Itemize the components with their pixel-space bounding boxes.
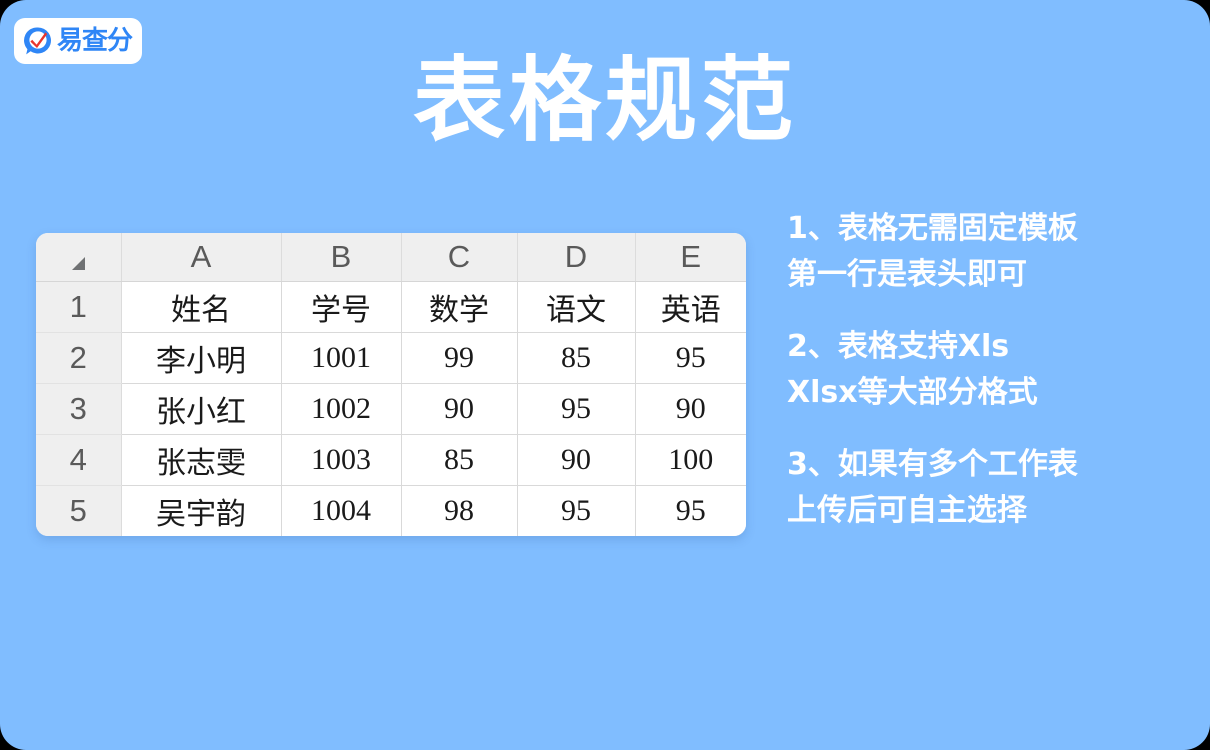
select-all-triangle-icon <box>72 257 85 270</box>
cell-c1[interactable]: 数学 <box>401 282 517 333</box>
note-item-3-line-2: 上传后可自主选择 <box>787 488 1187 534</box>
page-title: 表格规范 <box>0 48 1210 154</box>
spreadsheet-panel: A B C D E 1 姓名 学号 数学 语文 英语 2 李小明 <box>36 233 746 536</box>
cell-e4[interactable]: 100 <box>635 435 746 486</box>
cell-d4[interactable]: 90 <box>517 435 635 486</box>
cell-a2[interactable]: 李小明 <box>121 333 281 384</box>
row-header-5[interactable]: 5 <box>36 486 121 537</box>
cell-a4[interactable]: 张志雯 <box>121 435 281 486</box>
note-item-1: 1、表格无需固定模板 第一行是表头即可 <box>787 206 1187 298</box>
table-row: 3 张小红 1002 90 95 90 <box>36 384 746 435</box>
cell-d2[interactable]: 85 <box>517 333 635 384</box>
cell-b1[interactable]: 学号 <box>281 282 401 333</box>
row-header-1[interactable]: 1 <box>36 282 121 333</box>
row-header-3[interactable]: 3 <box>36 384 121 435</box>
row-header-4[interactable]: 4 <box>36 435 121 486</box>
cell-d3[interactable]: 95 <box>517 384 635 435</box>
column-header-d[interactable]: D <box>517 233 635 282</box>
cell-a5[interactable]: 吴宇韵 <box>121 486 281 537</box>
cell-b4[interactable]: 1003 <box>281 435 401 486</box>
cell-a3[interactable]: 张小红 <box>121 384 281 435</box>
note-item-2-line-2: Xlsx等大部分格式 <box>787 370 1187 416</box>
cell-c5[interactable]: 98 <box>401 486 517 537</box>
table-row: 1 姓名 学号 数学 语文 英语 <box>36 282 746 333</box>
note-item-3: 3、如果有多个工作表 上传后可自主选择 <box>787 442 1187 534</box>
cell-e3[interactable]: 90 <box>635 384 746 435</box>
cell-d5[interactable]: 95 <box>517 486 635 537</box>
column-header-a[interactable]: A <box>121 233 281 282</box>
column-header-c[interactable]: C <box>401 233 517 282</box>
column-header-b[interactable]: B <box>281 233 401 282</box>
select-all-corner[interactable] <box>36 233 121 282</box>
note-item-1-line-2: 第一行是表头即可 <box>787 252 1187 298</box>
spreadsheet-table: A B C D E 1 姓名 学号 数学 语文 英语 2 李小明 <box>36 233 746 536</box>
slide-canvas: 易查分 表格规范 A B C D E 1 <box>0 0 1210 750</box>
table-row: 4 张志雯 1003 85 90 100 <box>36 435 746 486</box>
cell-b3[interactable]: 1002 <box>281 384 401 435</box>
cell-c2[interactable]: 99 <box>401 333 517 384</box>
note-item-1-line-1: 1、表格无需固定模板 <box>787 206 1187 252</box>
cell-e2[interactable]: 95 <box>635 333 746 384</box>
column-header-e[interactable]: E <box>635 233 746 282</box>
table-row: 5 吴宇韵 1004 98 95 95 <box>36 486 746 537</box>
cell-d1[interactable]: 语文 <box>517 282 635 333</box>
row-header-2[interactable]: 2 <box>36 333 121 384</box>
cell-a1[interactable]: 姓名 <box>121 282 281 333</box>
cell-c3[interactable]: 90 <box>401 384 517 435</box>
column-header-row: A B C D E <box>36 233 746 282</box>
cell-e5[interactable]: 95 <box>635 486 746 537</box>
note-item-2-line-1: 2、表格支持Xls <box>787 324 1187 370</box>
cell-b5[interactable]: 1004 <box>281 486 401 537</box>
cell-b2[interactable]: 1001 <box>281 333 401 384</box>
cell-c4[interactable]: 85 <box>401 435 517 486</box>
cell-e1[interactable]: 英语 <box>635 282 746 333</box>
notes-list: 1、表格无需固定模板 第一行是表头即可 2、表格支持Xls Xlsx等大部分格式… <box>787 206 1187 560</box>
note-item-2: 2、表格支持Xls Xlsx等大部分格式 <box>787 324 1187 416</box>
note-item-3-line-1: 3、如果有多个工作表 <box>787 442 1187 488</box>
table-row: 2 李小明 1001 99 85 95 <box>36 333 746 384</box>
